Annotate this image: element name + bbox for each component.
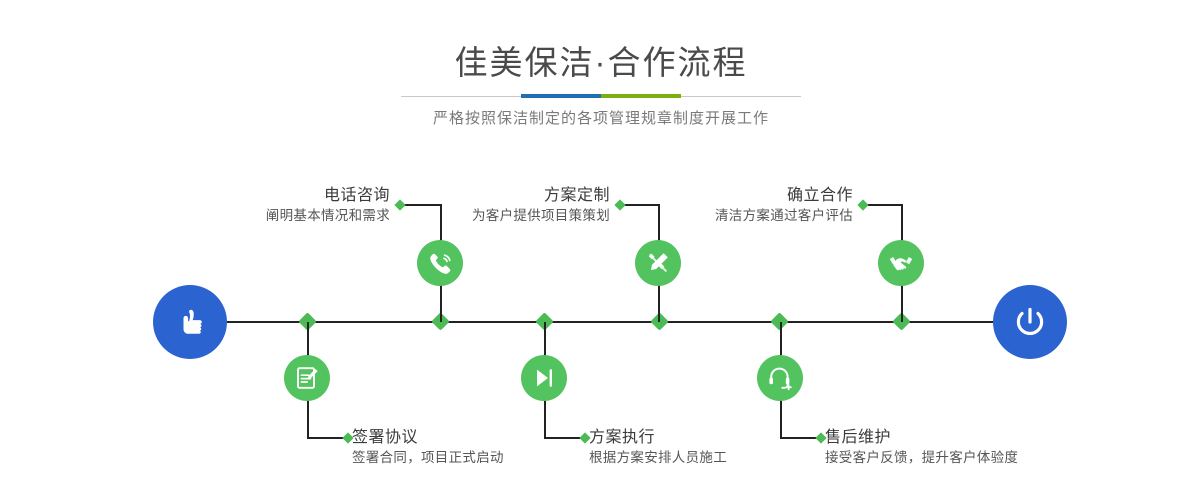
step-6-node[interactable]: [757, 355, 803, 401]
timeline-axis: [215, 321, 1005, 323]
step-6-title: 售后维护: [825, 428, 1125, 448]
divider-green-segment: [601, 94, 681, 98]
phone-call-icon: [426, 249, 454, 277]
headset-support-icon: [766, 364, 794, 392]
step-5-label: 确立合作 清洁方案通过客户评估: [603, 186, 853, 225]
step-1-node[interactable]: [417, 240, 463, 286]
step-5-node[interactable]: [878, 240, 924, 286]
title-divider: [401, 94, 801, 98]
divider-blue-segment: [521, 94, 601, 98]
step-3-node[interactable]: [635, 240, 681, 286]
step-5-tip-marker: [857, 199, 868, 210]
pencil-ruler-icon: [644, 249, 672, 277]
step-5-desc: 清洁方案通过客户评估: [603, 206, 853, 225]
step-2-desc: 签署合同，项目正式启动: [352, 448, 612, 467]
step-2-node[interactable]: [284, 355, 330, 401]
step-1-desc: 阐明基本情况和需求: [140, 206, 390, 225]
page-title: 佳美保洁·合作流程: [0, 46, 1202, 79]
play-execute-icon: [530, 364, 558, 392]
step-1-label: 电话咨询 阐明基本情况和需求: [140, 186, 390, 225]
flowchart-canvas: 佳美保洁·合作流程 严格按照保洁制定的各项管理规章制度开展工作: [0, 0, 1202, 502]
step-4-desc: 根据方案安排人员施工: [589, 448, 849, 467]
timeline-start-node: [153, 285, 227, 359]
step-4-node[interactable]: [521, 355, 567, 401]
power-icon: [1009, 301, 1051, 343]
page-subtitle: 严格按照保洁制定的各项管理规章制度开展工作: [0, 107, 1202, 128]
step-3-desc: 为客户提供项目策策划: [360, 206, 610, 225]
handshake-icon: [887, 249, 915, 277]
step-3-label: 方案定制 为客户提供项目策策划: [360, 186, 610, 225]
document-pencil-icon: [293, 364, 321, 392]
step-5-title: 确立合作: [603, 186, 853, 206]
step-3-title: 方案定制: [360, 186, 610, 206]
step-6-label: 售后维护 接受客户反馈，提升客户体验度: [825, 428, 1125, 467]
step-2-label: 签署协议 签署合同，项目正式启动: [352, 428, 612, 467]
pointing-hand-icon: [170, 302, 210, 342]
step-1-title: 电话咨询: [140, 186, 390, 206]
timeline-end-node: [993, 285, 1067, 359]
step-6-desc: 接受客户反馈，提升客户体验度: [825, 448, 1125, 467]
step-4-label: 方案执行 根据方案安排人员施工: [589, 428, 849, 467]
